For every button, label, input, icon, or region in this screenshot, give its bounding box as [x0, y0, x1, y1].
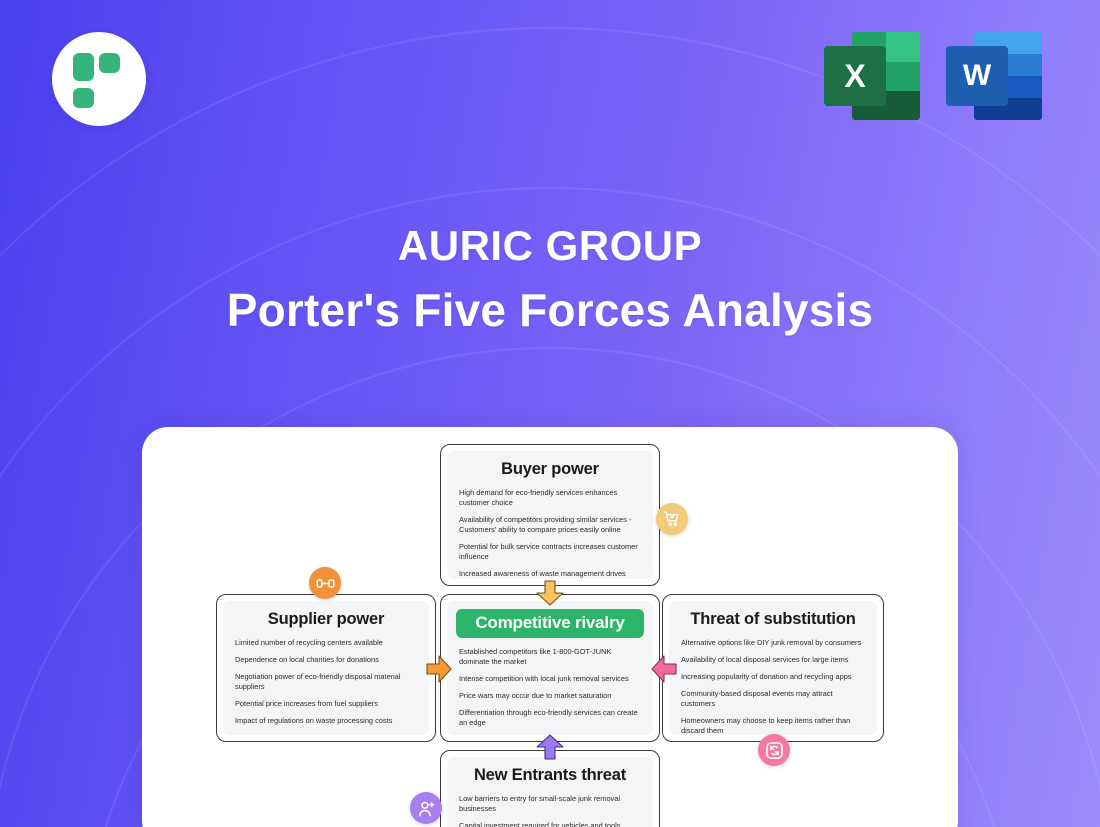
force-point: Differentiation through eco-friendly ser… [459, 708, 641, 728]
five-forces-diagram: Buyer power High demand for eco-friendly… [142, 427, 958, 827]
word-icon: W [946, 30, 1044, 122]
force-points: Established competitors like 1-800-GOT-J… [459, 647, 641, 735]
force-point: Impact of regulations on waste processin… [235, 716, 417, 726]
force-point: Availability of competitors providing si… [459, 515, 641, 535]
company-title: AURIC GROUP [0, 222, 1100, 270]
title-block: AURIC GROUP Porter's Five Forces Analysi… [0, 222, 1100, 337]
grid-dashboard-icon [73, 53, 125, 105]
force-point: Availability of local disposal services … [681, 655, 865, 665]
force-point: Price wars may occur due to market satur… [459, 691, 641, 701]
force-point: Dependence on local charities for donati… [235, 655, 417, 665]
force-point: Potential for bulk service contracts inc… [459, 542, 641, 562]
force-box-new-entrants-threat[interactable]: New Entrants threat Low barriers to entr… [440, 750, 660, 827]
force-title: Buyer power [459, 460, 641, 479]
arrow-buyer-to-rivalry [535, 580, 565, 606]
force-point: Homeowners may choose to keep items rath… [681, 716, 865, 735]
force-point: Capital investment required for vehicles… [459, 821, 641, 827]
refresh-icon[interactable] [758, 734, 790, 766]
diagram-card: Buyer power High demand for eco-friendly… [142, 427, 958, 827]
force-point: Limited number of recycling centers avai… [235, 638, 417, 648]
force-point: Potential price increases from fuel supp… [235, 699, 417, 709]
brand-logo [52, 32, 146, 126]
arrow-supplier-to-rivalry [426, 655, 453, 683]
arrow-threat-to-rivalry [650, 655, 677, 683]
force-point: Increased awareness of waste management … [459, 569, 641, 579]
force-points: High demand for eco-friendly services en… [459, 488, 641, 579]
force-box-threat-of-substitution[interactable]: Threat of substitution Alternative optio… [662, 594, 884, 742]
force-points: Alternative options like DIY junk remova… [681, 638, 865, 735]
excel-letter: X [824, 46, 886, 106]
force-title: Threat of substitution [681, 610, 865, 629]
office-icon-group: X W [824, 30, 1044, 122]
force-point: Increasing popularity of donation and re… [681, 672, 865, 682]
force-point: High demand for eco-friendly services en… [459, 488, 641, 508]
add-user-icon[interactable] [410, 792, 442, 824]
excel-icon: X [824, 30, 922, 122]
force-title: Supplier power [235, 610, 417, 629]
force-point: Negotiation power of eco-friendly dispos… [235, 672, 417, 692]
force-box-competitive-rivalry[interactable]: Competitive rivalry Established competit… [440, 594, 660, 742]
link-icon[interactable] [309, 567, 341, 599]
word-letter: W [946, 46, 1008, 106]
force-title: New Entrants threat [459, 766, 641, 785]
force-point: Established competitors like 1-800-GOT-J… [459, 647, 641, 667]
force-box-buyer-power[interactable]: Buyer power High demand for eco-friendly… [440, 444, 660, 586]
force-box-supplier-power[interactable]: Supplier power Limited number of recycli… [216, 594, 436, 742]
page-title: Porter's Five Forces Analysis [0, 284, 1100, 337]
force-point: Low barriers to entry for small-scale ju… [459, 794, 641, 814]
slide-canvas: X W AURIC GROUP Porter's Five Forces Ana… [0, 0, 1100, 827]
force-point: Alternative options like DIY junk remova… [681, 638, 865, 648]
force-points: Limited number of recycling centers avai… [235, 638, 417, 726]
force-point: Intense competition with local junk remo… [459, 674, 641, 684]
arrow-entrant-to-rivalry [535, 734, 565, 760]
force-point: Community-based disposal events may attr… [681, 689, 865, 709]
force-title-highlighted: Competitive rivalry [456, 609, 644, 638]
cart-icon[interactable] [656, 503, 688, 535]
force-points: Low barriers to entry for small-scale ju… [459, 794, 641, 827]
